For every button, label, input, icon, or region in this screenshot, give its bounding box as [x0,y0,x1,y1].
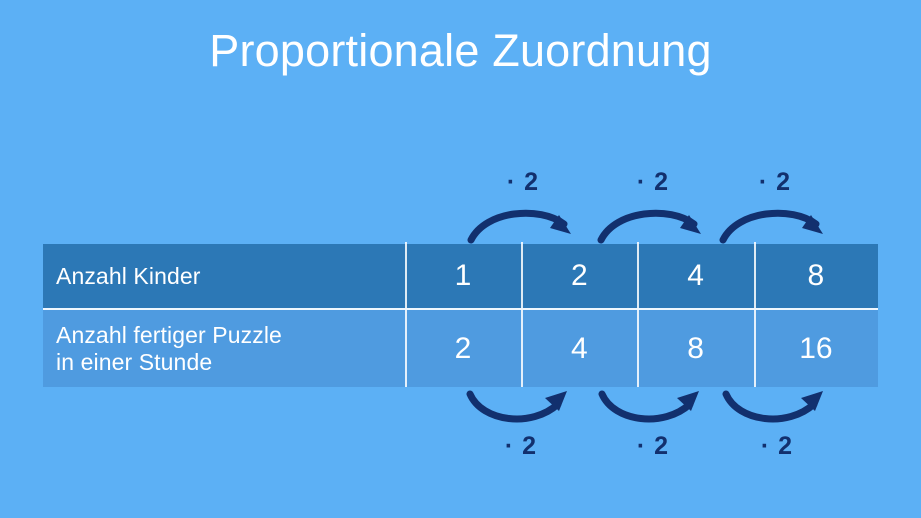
bottom-arrow-group-2: · 2 [598,388,708,468]
top-arrow-group-3: · 2 [720,168,830,244]
proportional-table: Anzahl Kinder 1 2 4 8 Anzahl fertiger Pu… [43,244,878,387]
top-arrow-group-1: · 2 [468,168,578,244]
table-row: Anzahl Kinder 1 2 4 8 [43,244,878,308]
top-arrow-label-3: · 2 [720,168,830,197]
table-cell: 4 [521,310,637,387]
bottom-arrow-label-1: · 2 [466,432,576,461]
curved-arrow-up-right-icon [598,388,708,432]
table-cell: 2 [521,244,637,308]
bottom-arrow-group-1: · 2 [466,388,576,468]
bottom-arrow-label-2: · 2 [598,432,708,461]
table-cell: 16 [754,310,878,387]
page-title: Proportionale Zuordnung [0,22,921,80]
table-row: Anzahl fertiger Puzzle in einer Stunde 2… [43,310,878,387]
top-arrow-label-1: · 2 [468,168,578,197]
row-label-anzahl-fertiger-puzzle: Anzahl fertiger Puzzle in einer Stunde [43,310,405,387]
curved-arrow-up-right-icon [466,388,576,432]
curved-arrow-up-right-icon [722,388,832,432]
top-arrow-group-2: · 2 [598,168,708,244]
curved-arrow-right-icon [468,202,578,244]
top-arrow-label-2: · 2 [598,168,708,197]
row-label-anzahl-kinder: Anzahl Kinder [43,244,405,308]
table-cell: 8 [754,244,878,308]
bottom-arrow-label-3: · 2 [722,432,832,461]
bottom-arrow-group-3: · 2 [722,388,832,468]
row-label-wrapper: Anzahl fertiger Puzzle in einer Stunde [56,322,282,376]
slide-canvas: Proportionale Zuordnung · 2 · 2 · 2 [0,0,921,518]
row-label-text: Anzahl Kinder [56,263,201,290]
row-label-text-line1: Anzahl fertiger Puzzle [56,322,282,348]
table-cell: 8 [637,310,753,387]
curved-arrow-right-icon [598,202,708,244]
table-cell: 2 [405,310,521,387]
table-cell: 4 [637,244,753,308]
curved-arrow-right-icon [720,202,830,244]
row-label-text-line2: in einer Stunde [56,349,282,376]
table-cell: 1 [405,244,521,308]
